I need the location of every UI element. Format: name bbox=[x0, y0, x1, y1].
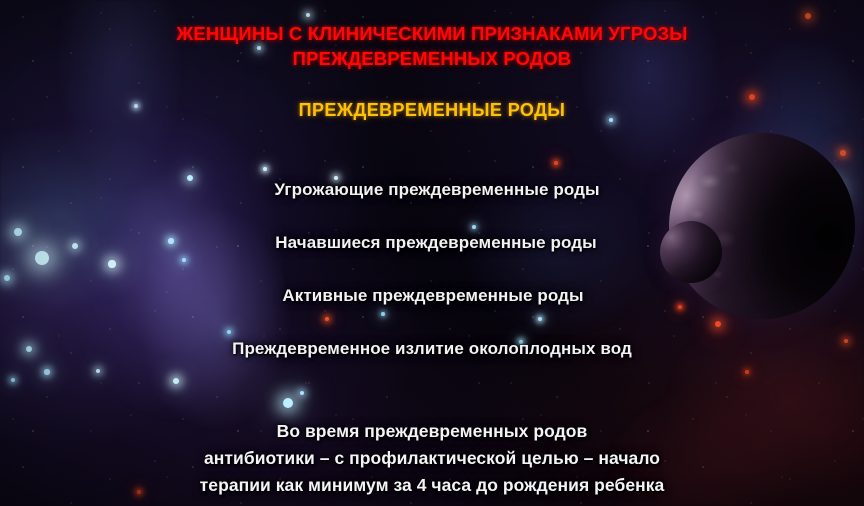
list-item: Начавшиеся преждевременные роды bbox=[8, 234, 864, 287]
condition-list: Угрожающие преждевременные роды Начавшие… bbox=[0, 181, 864, 393]
list-item: Преждевременное излитие околоплодных вод bbox=[0, 340, 864, 393]
title-line-1: ЖЕНЩИНЫ С КЛИНИЧЕСКИМИ ПРИЗНАКАМИ УГРОЗЫ bbox=[0, 21, 864, 46]
footer-note: Во время преждевременных родов антибиоти… bbox=[0, 418, 864, 499]
footer-line-1: Во время преждевременных родов bbox=[0, 418, 864, 445]
slide-subtitle: ПРЕЖДЕВРЕМЕННЫЕ РОДЫ bbox=[0, 100, 864, 121]
title-line-2: ПРЕЖДЕВРЕМЕННЫХ РОДОВ bbox=[0, 46, 864, 71]
presentation-slide: ЖЕНЩИНЫ С КЛИНИЧЕСКИМИ ПРИЗНАКАМИ УГРОЗЫ… bbox=[0, 0, 864, 506]
list-item: Угрожающие преждевременные роды bbox=[10, 181, 864, 234]
slide-title: ЖЕНЩИНЫ С КЛИНИЧЕСКИМИ ПРИЗНАКАМИ УГРОЗЫ… bbox=[0, 21, 864, 71]
slide-content: ЖЕНЩИНЫ С КЛИНИЧЕСКИМИ ПРИЗНАКАМИ УГРОЗЫ… bbox=[0, 0, 864, 506]
footer-line-3: терапии как минимум за 4 часа до рождени… bbox=[0, 472, 864, 499]
list-item: Активные преждевременные роды bbox=[2, 287, 864, 340]
footer-line-2: антибиотики – с профилактической целью –… bbox=[0, 445, 864, 472]
